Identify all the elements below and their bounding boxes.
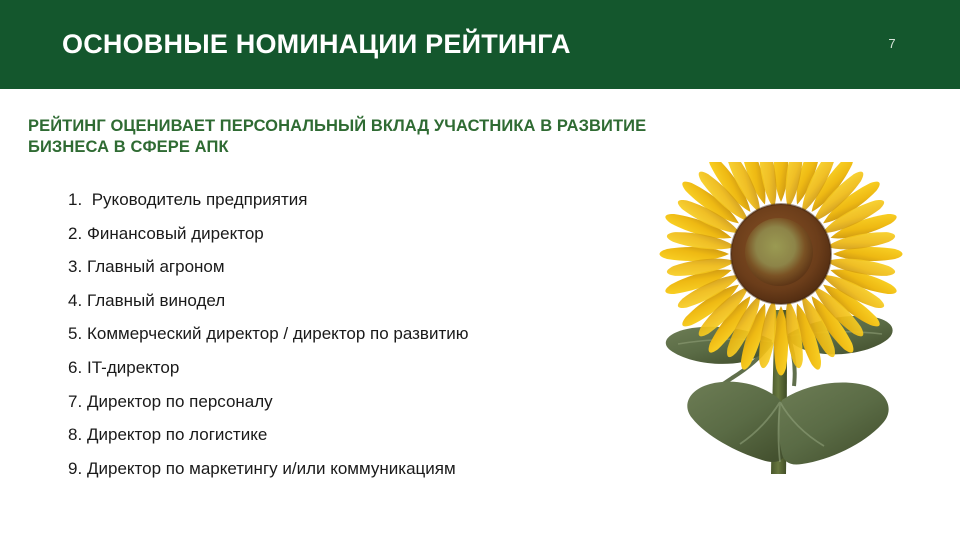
list-item: 3.Главный агроном: [68, 257, 628, 291]
list-item-number: 5.: [68, 324, 87, 344]
sunflower-graphic: [648, 162, 948, 507]
list-item-label: Руководитель предприятия: [87, 190, 307, 209]
list-item-label: Финансовый директор: [87, 224, 264, 243]
list-item-number: 4.: [68, 291, 87, 311]
list-item-number: 6.: [68, 358, 87, 378]
list-item-number: 2.: [68, 224, 87, 244]
list-item-label: Главный винодел: [87, 291, 225, 310]
list-item: 7.Директор по персоналу: [68, 392, 628, 426]
list-item-label: IT-директор: [87, 358, 179, 377]
sunflower-image: [648, 162, 948, 507]
page-title: ОСНОВНЫЕ НОМИНАЦИИ РЕЙТИНГА: [62, 28, 571, 60]
list-item-number: 7.: [68, 392, 87, 412]
list-item: 9.Директор по маркетингу и/или коммуника…: [68, 459, 628, 493]
list-item-label: Директор по персоналу: [87, 392, 273, 411]
subtitle-block: РЕЙТИНГ ОЦЕНИВАЕТ ПЕРСОНАЛЬНЫЙ ВКЛАД УЧА…: [28, 116, 828, 158]
page-number: 7: [880, 36, 904, 52]
list-item: 4.Главный винодел: [68, 291, 628, 325]
subtitle-line-2: БИЗНЕСА В СФЕРЕ АПК: [28, 137, 828, 158]
list-item-number: 8.: [68, 425, 87, 445]
list-item-label: Коммерческий директор / директор по разв…: [87, 324, 469, 343]
slide-header-bar: ОСНОВНЫЕ НОМИНАЦИИ РЕЙТИНГА 7: [0, 0, 960, 89]
list-item: 8.Директор по логистике: [68, 425, 628, 459]
list-item-number: 3.: [68, 257, 87, 277]
list-item: 5.Коммерческий директор / директор по ра…: [68, 324, 628, 358]
list-item-number: 1.: [68, 190, 87, 210]
sunflower-disc-center: [745, 218, 813, 286]
list-item-label: Директор по маркетингу и/или коммуникаци…: [87, 459, 456, 478]
subtitle-line-1: РЕЙТИНГ ОЦЕНИВАЕТ ПЕРСОНАЛЬНЫЙ ВКЛАД УЧА…: [28, 116, 828, 137]
nomination-list: 1. Руководитель предприятия 2.Финансовый…: [68, 190, 628, 492]
list-item-label: Главный агроном: [87, 257, 225, 276]
list-item-number: 9.: [68, 459, 87, 479]
list-item: 2.Финансовый директор: [68, 224, 628, 258]
list-item: 1. Руководитель предприятия: [68, 190, 628, 224]
list-item-label: Директор по логистике: [87, 425, 267, 444]
list-item: 6.IT-директор: [68, 358, 628, 392]
slide-canvas: ОСНОВНЫЕ НОМИНАЦИИ РЕЙТИНГА 7 РЕЙТИНГ ОЦ…: [0, 0, 960, 540]
